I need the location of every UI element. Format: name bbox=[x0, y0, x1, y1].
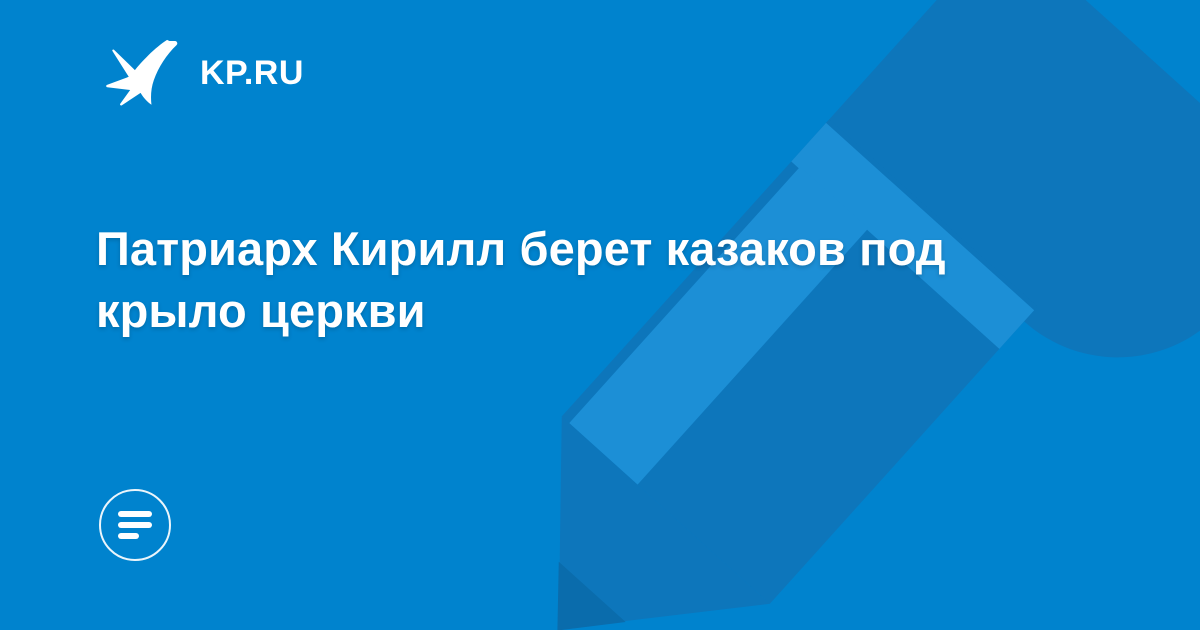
share-card: KP.RU Патриарх Кирилл берет казаков под … bbox=[0, 0, 1200, 630]
hamburger-menu-icon bbox=[118, 511, 152, 539]
brand-logo[interactable]: KP.RU bbox=[104, 36, 304, 110]
pencil-cone-shape bbox=[455, 416, 770, 630]
pencil-barrel-shape bbox=[562, 119, 1038, 604]
pencil-cap-shape bbox=[816, 0, 1200, 415]
brand-wordmark: KP.RU bbox=[200, 56, 304, 90]
menu-bar-1 bbox=[118, 511, 152, 517]
swallow-bird-icon bbox=[104, 38, 180, 108]
menu-bar-3 bbox=[118, 533, 139, 539]
menu-bar-2 bbox=[118, 522, 152, 528]
menu-button[interactable] bbox=[99, 489, 171, 561]
page-title: Патриарх Кирилл берет казаков под крыло … bbox=[96, 218, 1056, 342]
pencil-tip-shape bbox=[524, 562, 626, 630]
